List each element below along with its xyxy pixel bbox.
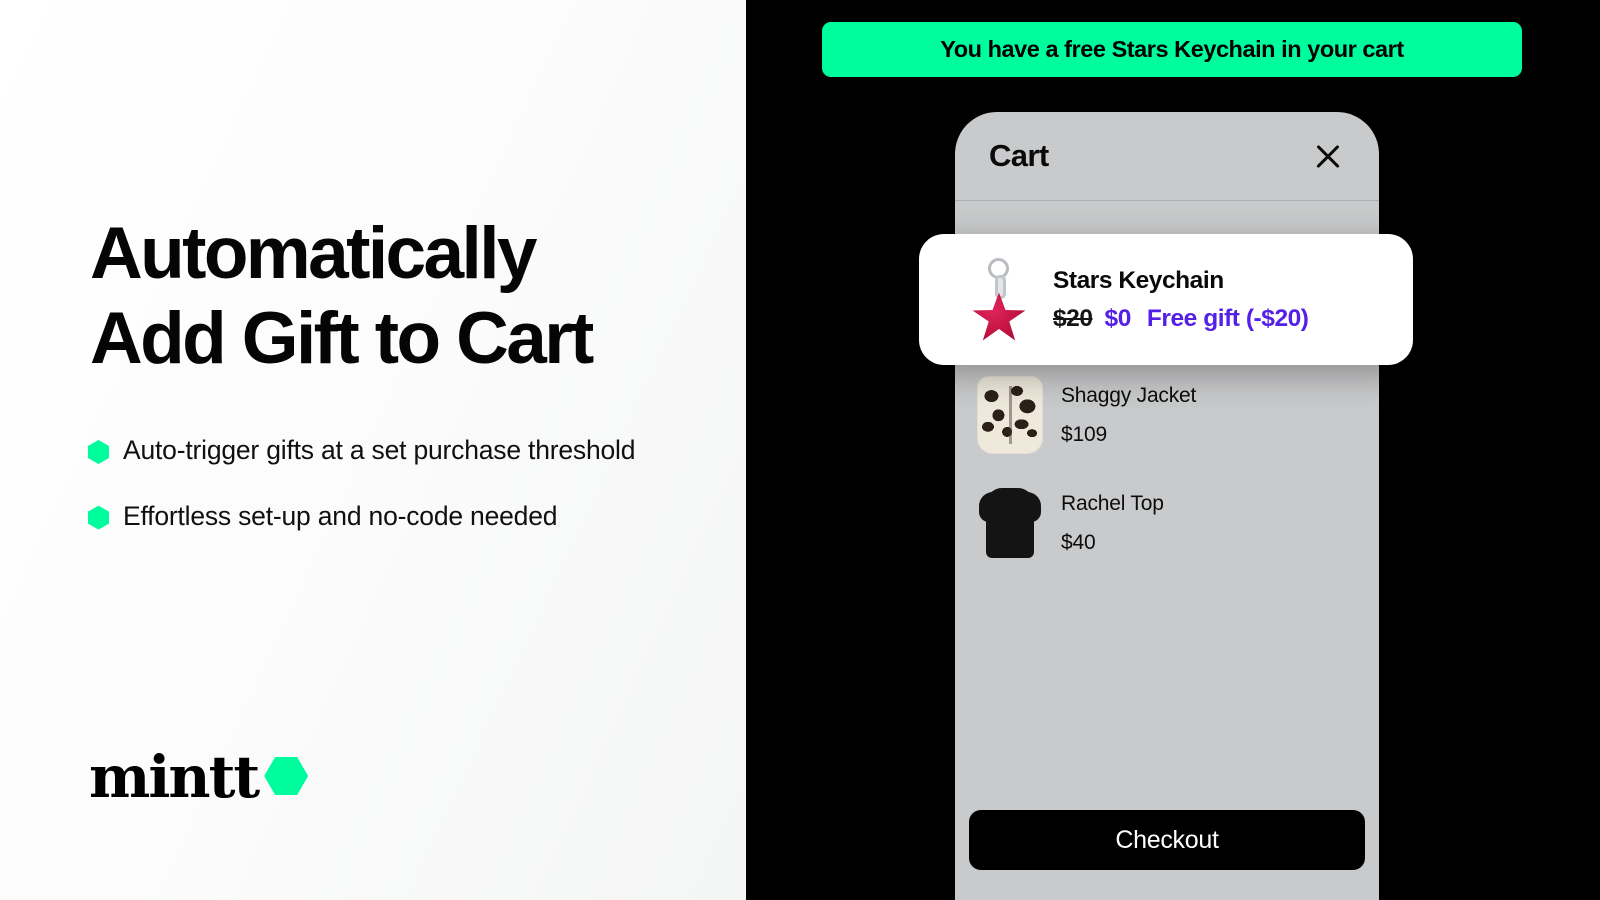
product-price: $109: [1061, 423, 1196, 447]
feature-text: Auto-trigger gifts at a set purchase thr…: [123, 432, 635, 470]
page-title: Automatically Add Gift to Cart: [90, 212, 700, 381]
original-price: $20: [1053, 305, 1093, 333]
marketing-panel: Automatically Add Gift to Cart Auto-trig…: [0, 0, 746, 900]
product-price: $40: [1061, 531, 1164, 555]
headline-line-2: Add Gift to Cart: [90, 297, 700, 382]
discounted-price: $0: [1105, 305, 1131, 333]
feature-text: Effortless set-up and no-code needed: [123, 498, 557, 536]
keyclasp-icon: [995, 275, 1006, 299]
hexagon-bullet-icon: [88, 506, 109, 530]
product-thumbnail-rachel-top: [977, 484, 1043, 562]
free-gift-card[interactable]: Stars Keychain $20 $0 Free gift (-$20): [919, 234, 1413, 365]
gift-product-name: Stars Keychain: [1053, 267, 1309, 295]
product-name: Rachel Top: [1061, 492, 1164, 516]
product-thumbnail-shaggy-jacket: [977, 376, 1043, 454]
brand-logo: mintt: [89, 748, 308, 806]
checkout-button[interactable]: Checkout: [969, 810, 1365, 870]
promo-banner-text: You have a free Stars Keychain in your c…: [940, 36, 1403, 63]
close-icon[interactable]: [1311, 139, 1345, 173]
free-gift-badge: Free gift (-$20): [1147, 305, 1309, 333]
promo-screenshot: Automatically Add Gift to Cart Auto-trig…: [0, 0, 1600, 900]
list-item[interactable]: Rachel Top $40: [955, 469, 1379, 577]
list-item: Effortless set-up and no-code needed: [88, 498, 678, 536]
product-thumbnail-stars-keychain: [969, 257, 1031, 343]
cart-title: Cart: [989, 138, 1049, 174]
promo-banner: You have a free Stars Keychain in your c…: [822, 22, 1522, 77]
hexagon-bullet-icon: [88, 440, 109, 464]
cart-header: Cart: [955, 112, 1379, 200]
list-item: Auto-trigger gifts at a set purchase thr…: [88, 432, 678, 470]
feature-list: Auto-trigger gifts at a set purchase thr…: [88, 432, 678, 563]
product-name: Shaggy Jacket: [1061, 384, 1196, 408]
product-details: Shaggy Jacket $109: [1061, 384, 1196, 447]
product-details: Rachel Top $40: [1061, 492, 1164, 555]
gift-price-row: $20 $0 Free gift (-$20): [1053, 305, 1309, 333]
logo-wordmark: mintt: [89, 748, 258, 806]
list-item[interactable]: Shaggy Jacket $109: [955, 361, 1379, 469]
demo-panel: You have a free Stars Keychain in your c…: [746, 0, 1600, 900]
star-icon: [972, 293, 1026, 343]
gift-details: Stars Keychain $20 $0 Free gift (-$20): [1053, 267, 1309, 333]
headline-line-1: Automatically: [90, 212, 700, 297]
cart-drawer: Cart Shaggy Jacket $109 Rachel: [955, 112, 1379, 900]
logo-hexagon-icon: [264, 757, 308, 795]
